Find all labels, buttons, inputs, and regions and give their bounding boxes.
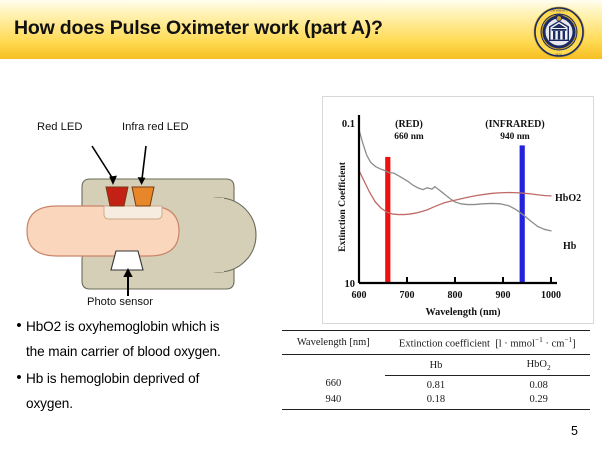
- red-marker-label-line2: 660 nm: [394, 132, 424, 142]
- table-header-row: Wavelength [nm] Extinction coefficient […: [282, 331, 590, 355]
- absorption-spectrum-chart: 6007008009001000 0.1 10 Extinction Coeff…: [322, 96, 594, 324]
- x-axis-label: Wavelength (nm): [426, 307, 501, 318]
- infrared-led-arrow-line: [142, 146, 146, 179]
- table-header-units-post: ]: [572, 339, 576, 350]
- x-tick-label: 600: [352, 290, 367, 301]
- red-marker-label-line1: (RED): [395, 119, 423, 130]
- table-header-units-sup1: −1: [535, 335, 543, 344]
- svg-text:SEAL: SEAL: [555, 53, 563, 57]
- cell-hb: 0.81: [385, 375, 488, 392]
- table-header-units-pre: [l · mmol: [495, 339, 535, 350]
- slide-header-banner: How does Pulse Oximeter work (part A)? U…: [0, 0, 602, 62]
- series-label-hbo2: HbO2: [555, 193, 581, 204]
- x-tick-label: 800: [448, 290, 463, 301]
- list-item: • HbO2 is oxyhemoglobin which is the mai…: [12, 314, 274, 364]
- y-axis-max-tick: 0.1: [342, 119, 355, 130]
- table-subheader-hbo2: HbO2: [487, 354, 590, 375]
- infrared-led-shape: [132, 187, 154, 206]
- y-axis-min-tick: 10: [345, 279, 356, 290]
- table-subheader-hbo2-base: HbO: [527, 359, 547, 370]
- table-header-units-mid: · cm: [543, 339, 565, 350]
- cell-wavelength: 660: [282, 375, 385, 392]
- x-tick-label: 1000: [541, 290, 561, 301]
- cell-hb: 0.18: [385, 392, 488, 409]
- page-title: How does Pulse Oximeter work (part A)?: [14, 17, 383, 40]
- infrared-marker-label-line1: (INFRARED): [485, 119, 544, 130]
- svg-text:UNIVERSITY: UNIVERSITY: [550, 8, 569, 12]
- bullet-line: HbO2 is oxyhemoglobin which is: [26, 314, 221, 339]
- table-header-extinction: Extinction coefficient [l · mmol−1 · cm−…: [385, 331, 590, 355]
- cell-hbo2: 0.08: [487, 375, 590, 392]
- red-led-label: Red LED: [37, 121, 82, 133]
- x-tick-label: 900: [496, 290, 511, 301]
- university-seal-icon: UNIVERSITY SEAL: [533, 6, 585, 58]
- cell-wavelength: 940: [282, 392, 385, 409]
- chart-canvas: 6007008009001000 0.1 10 Extinction Coeff…: [323, 97, 593, 323]
- bullet-dot-icon: •: [12, 366, 26, 390]
- red-marker: [385, 157, 390, 283]
- fingernail: [104, 206, 162, 219]
- bullet-list: • HbO2 is oxyhemoglobin which is the mai…: [12, 314, 274, 418]
- pulse-oximeter-finger-diagram: Red LED Infra red LED Photo sensor: [14, 108, 286, 308]
- table-row: 660 0.81 0.08: [282, 375, 590, 392]
- table-header-wavelength: Wavelength [nm]: [282, 331, 385, 355]
- table-subheader-hbo2-sub: 2: [547, 363, 551, 372]
- photo-sensor-shape: [111, 251, 143, 270]
- infrared-led-label: Infra red LED: [122, 121, 189, 133]
- table: Wavelength [nm] Extinction coefficient […: [282, 330, 590, 410]
- bullet-dot-icon: •: [12, 314, 26, 338]
- photo-sensor-label: Photo sensor: [87, 296, 153, 308]
- red-led-shape: [106, 187, 128, 206]
- table-subheader-row: Hb HbO2: [282, 354, 590, 375]
- series-label-hb: Hb: [563, 241, 577, 252]
- red-led-arrow-line: [92, 146, 113, 179]
- bullet-line: oxygen.: [26, 391, 199, 416]
- page-number: 5: [571, 424, 578, 438]
- table-subheader-hb: Hb: [385, 354, 488, 375]
- extinction-coefficient-table: Wavelength [nm] Extinction coefficient […: [282, 330, 590, 410]
- bullet-line: the main carrier of blood oxygen.: [26, 339, 221, 364]
- table-header-extinction-text: Extinction coefficient: [399, 339, 490, 350]
- list-item: • Hb is hemoglobin deprived of oxygen.: [12, 366, 274, 416]
- finger-clip-illustration: [14, 108, 286, 308]
- x-tick-label: 700: [400, 290, 415, 301]
- infrared-marker-label-line2: 940 nm: [500, 132, 530, 142]
- bullet-line: Hb is hemoglobin deprived of: [26, 366, 199, 391]
- university-seal-logo: UNIVERSITY SEAL: [533, 6, 585, 58]
- cell-hbo2: 0.29: [487, 392, 590, 409]
- y-axis-label: Extinction Coefficient: [337, 161, 348, 252]
- table-row: 940 0.18 0.29: [282, 392, 590, 409]
